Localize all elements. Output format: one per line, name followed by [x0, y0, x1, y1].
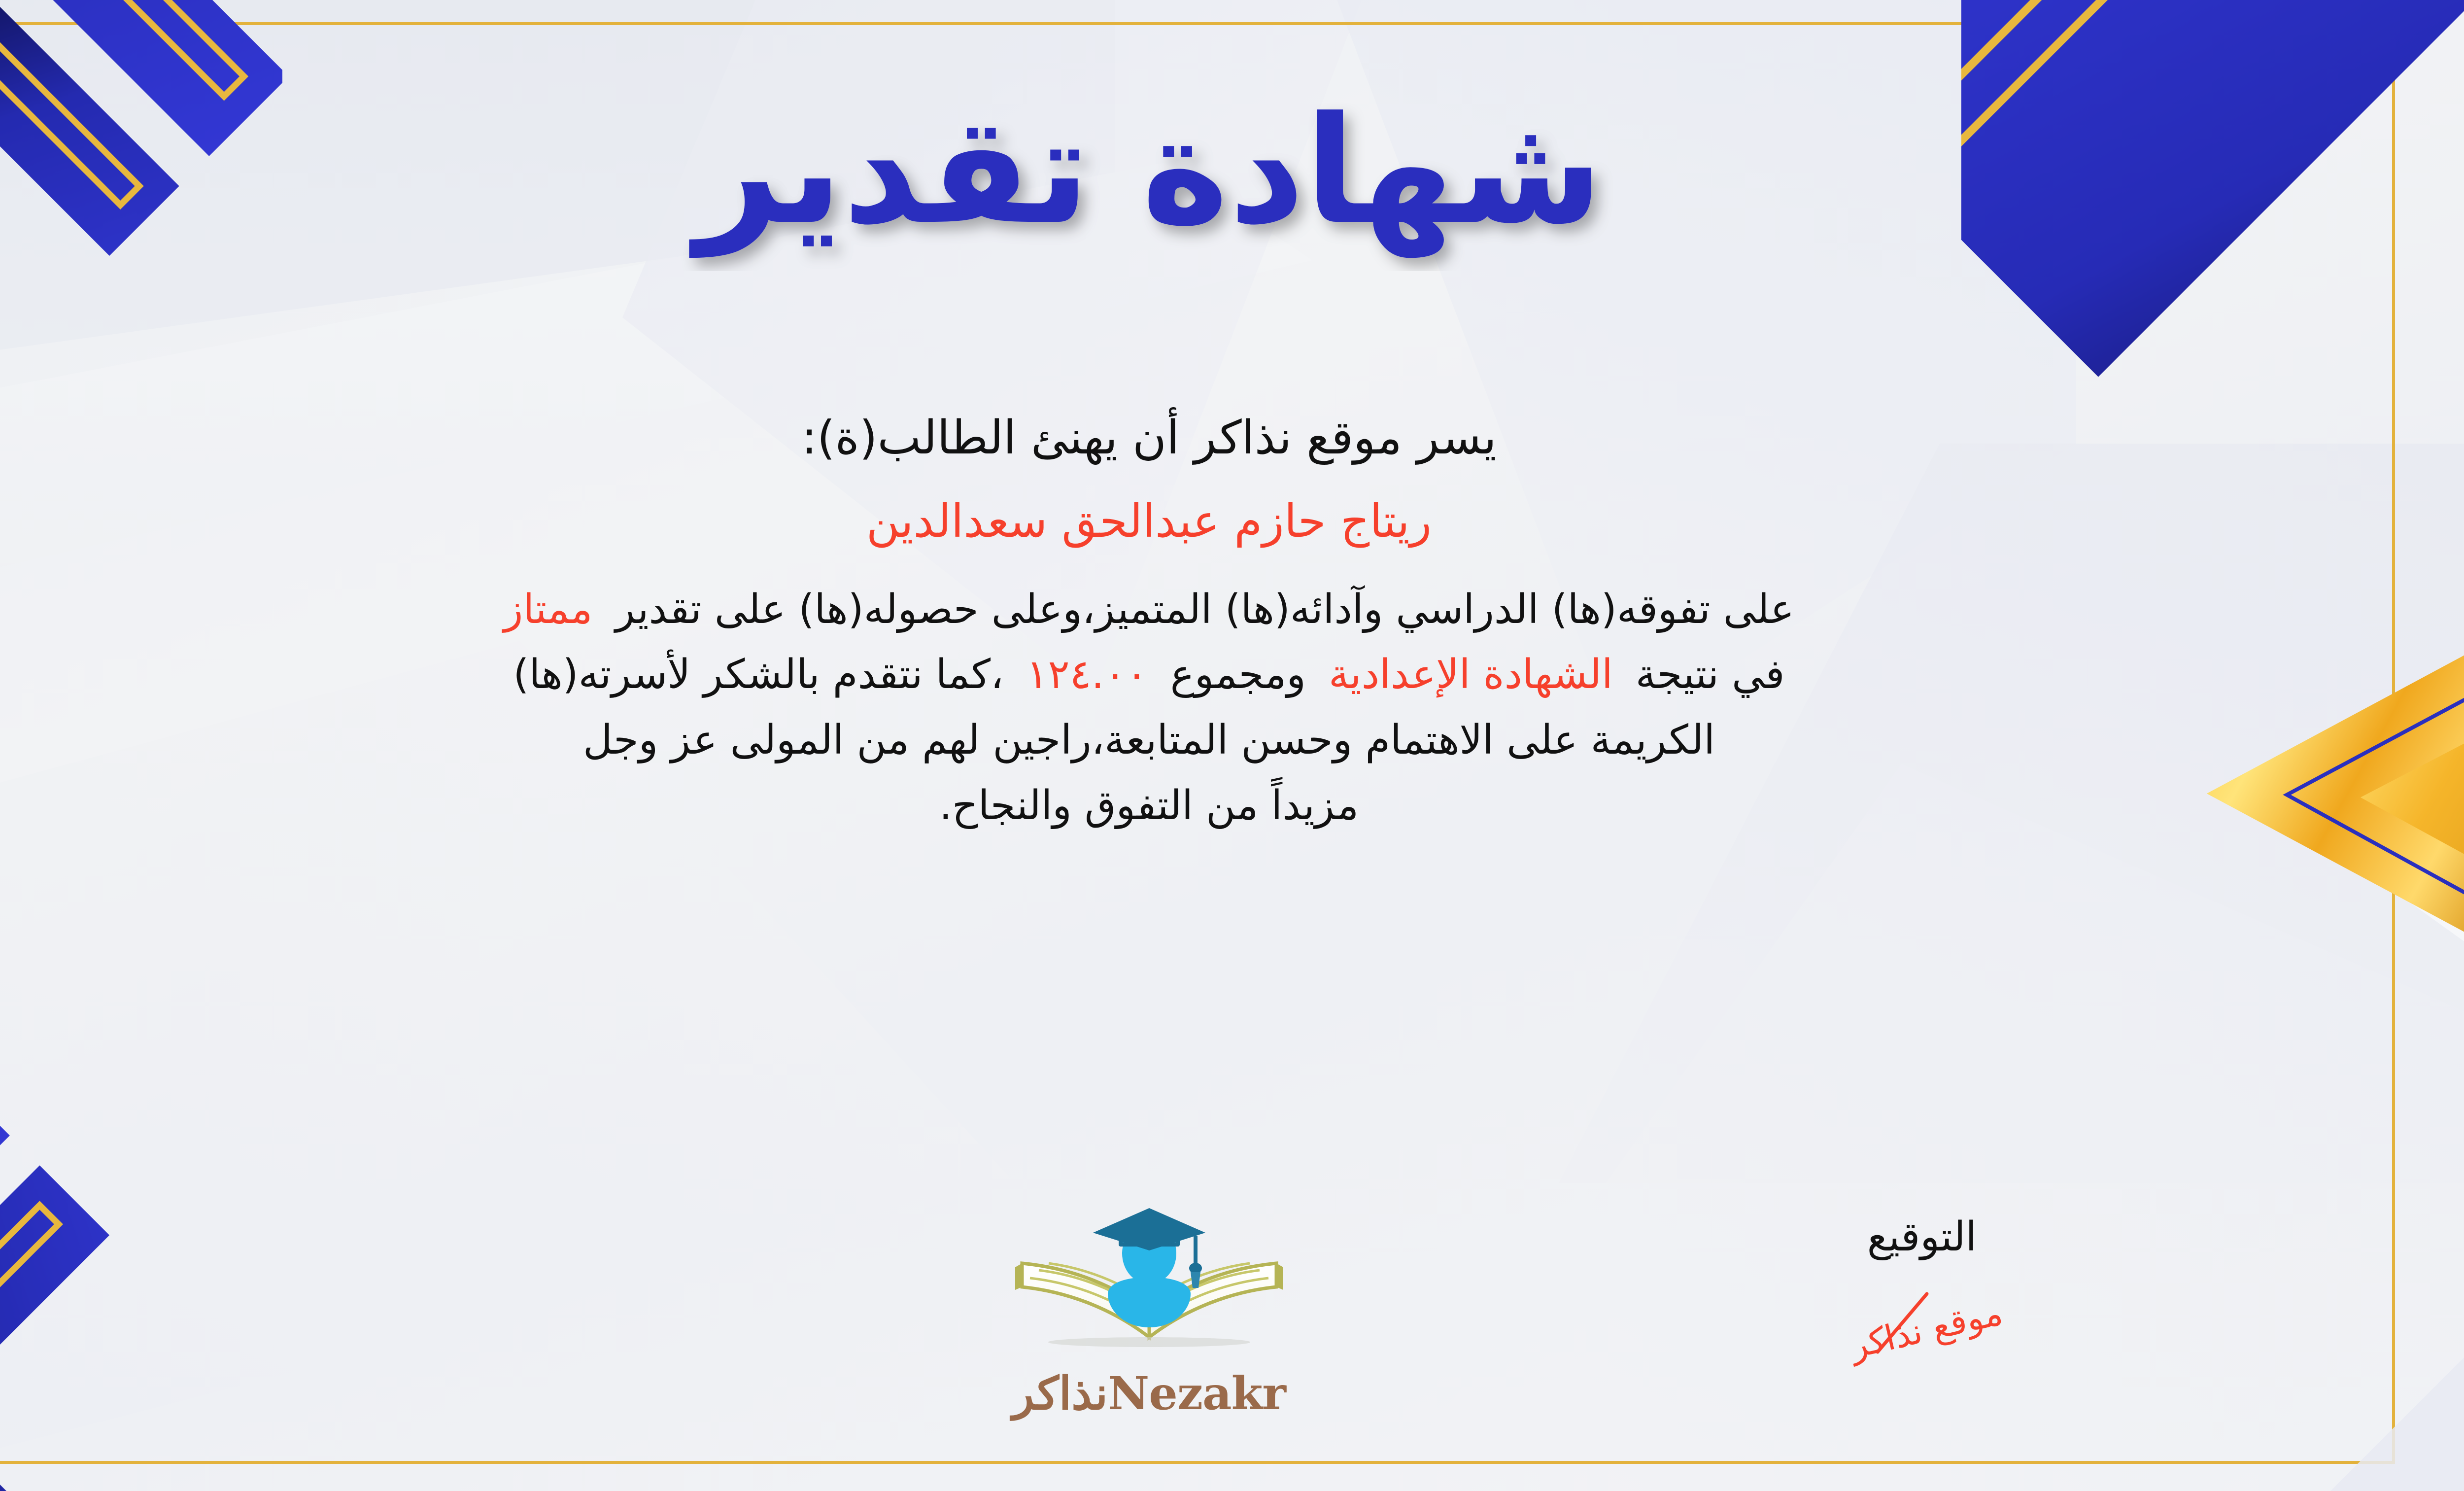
brand-logo: Nezakrنذاكر: [962, 1205, 1336, 1420]
certificate-title-calligraphy: شهادة تقدير: [509, 74, 1790, 271]
certificate-body: يسر موقع نذاكر أن يهنئ الطالب(ة): ريتاج …: [0, 409, 2346, 839]
citation-segment-5: الكريمة على الاهتمام وحسن المتابعة،راجين…: [583, 717, 1715, 763]
graduate-cap-top: [1093, 1208, 1205, 1250]
citation-segment-3: ومجموع: [1170, 651, 1306, 698]
citation-segment-1: على تفوقه(ها) الدراسي وآدائه(ها) المتميز…: [615, 586, 1794, 633]
signature-mark: موقع نذاكر: [1784, 1273, 2060, 1369]
certificate-content: شهادة تقدير يسر موقع نذاكر أن يهنئ الطال…: [0, 0, 2375, 1491]
grade-value: ممتاز: [504, 586, 593, 633]
page-title: شهادة تقدير: [0, 74, 2375, 281]
brand-name-latin: Nezakr: [1108, 1367, 1286, 1420]
total-score-value: ١٢٤.٠٠: [1027, 651, 1148, 698]
certificate-footer: التوقيع موقع نذاكر: [0, 1215, 2375, 1427]
certificate-document: شهادة تقدير يسر موقع نذاكر أن يهنئ الطال…: [0, 0, 2464, 1491]
graduate-book-icon: [992, 1205, 1307, 1368]
student-name: ريتاج حازم عبدالحق سعدالدين: [0, 493, 2346, 550]
greeting-line: يسر موقع نذاكر أن يهنئ الطالب(ة):: [0, 409, 2346, 467]
signature-label: التوقيع: [1784, 1215, 2060, 1259]
citation-segment-4: ،كما نتقدم بالشكر لأسرته(ها): [513, 651, 1003, 698]
signature-block: التوقيع موقع نذاكر: [1784, 1215, 2060, 1369]
brand-logo-text: Nezakrنذاكر: [962, 1367, 1336, 1420]
citation-segment-2: في نتيجة: [1636, 651, 1785, 698]
exam-name-value: الشهادة الإعدادية: [1329, 651, 1613, 698]
title-glyph-text: شهادة تقدير: [688, 85, 1603, 259]
signature-mark-text: موقع نذاكر: [1845, 1292, 2006, 1367]
citation-segment-6: مزيداً من التفوق والنجاح.: [939, 782, 1359, 829]
citation-paragraph: على تفوقه(ها) الدراسي وآدائه(ها) المتميز…: [0, 577, 2346, 839]
brand-name-arabic: نذاكر: [1012, 1367, 1108, 1420]
